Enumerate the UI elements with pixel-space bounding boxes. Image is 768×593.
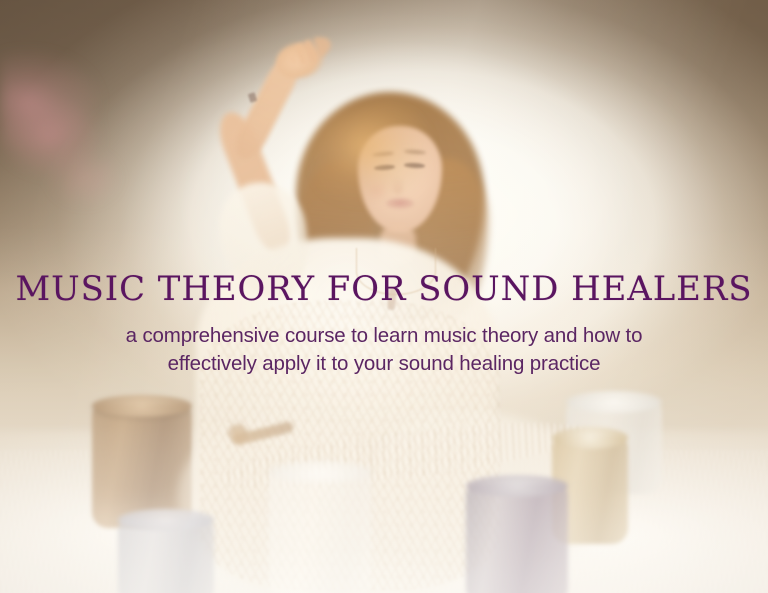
bowl-rim — [552, 427, 628, 449]
bowl-body — [466, 484, 568, 593]
crystal-singing-bowl-white-mid — [268, 470, 372, 593]
face — [358, 126, 442, 232]
page-subtitle: a comprehensive course to learn music th… — [54, 322, 714, 377]
bowl-rim — [92, 395, 192, 417]
crystal-singing-bowl-tan — [552, 436, 628, 544]
lace-trim-band — [214, 409, 592, 500]
nose — [393, 176, 403, 194]
cheek-blush — [364, 182, 390, 200]
subtitle-line-2: effectively apply it to your sound heali… — [54, 350, 714, 378]
bowl-body — [92, 404, 192, 528]
bowl-rim — [466, 475, 568, 497]
crystal-singing-bowl-grey — [118, 518, 214, 593]
crystal-singing-bowl-amethyst — [466, 484, 568, 593]
bowl-body — [566, 400, 662, 494]
bowl-mallet-head — [228, 424, 248, 442]
crystal-singing-bowl-white — [566, 400, 662, 494]
crystal-singing-bowl-amber — [92, 404, 192, 528]
bowl-body — [552, 436, 628, 544]
bowl-mallet — [232, 421, 295, 447]
bowl-rim — [566, 391, 662, 413]
fur-rug — [0, 430, 768, 593]
bowl-body — [118, 518, 214, 593]
raised-arm-upper — [212, 107, 297, 259]
skirt-left — [178, 418, 368, 568]
bowl-rim — [118, 509, 214, 531]
eye-left-closed — [374, 164, 395, 170]
promo-graphic-canvas: MUSIC THEORY FOR SOUND HEALERS a compreh… — [0, 0, 768, 593]
wrist-tattoo — [248, 92, 257, 103]
bowl-rim — [268, 461, 372, 483]
subtitle-line-1: a comprehensive course to learn music th… — [54, 322, 714, 350]
hair-highlight — [314, 104, 440, 224]
hand-fingers — [285, 32, 334, 70]
fur-rug-texture — [0, 450, 768, 593]
eyebrow-left — [372, 151, 394, 157]
eye-right-closed — [404, 162, 425, 168]
lips — [386, 198, 414, 209]
eyebrow-right — [404, 149, 426, 155]
skirt-right — [372, 412, 602, 572]
neck — [380, 224, 416, 264]
raised-arm-forearm — [229, 52, 305, 165]
bowl-body — [268, 470, 372, 593]
raised-hand — [272, 36, 330, 84]
page-title: MUSIC THEORY FOR SOUND HEALERS — [0, 272, 768, 306]
